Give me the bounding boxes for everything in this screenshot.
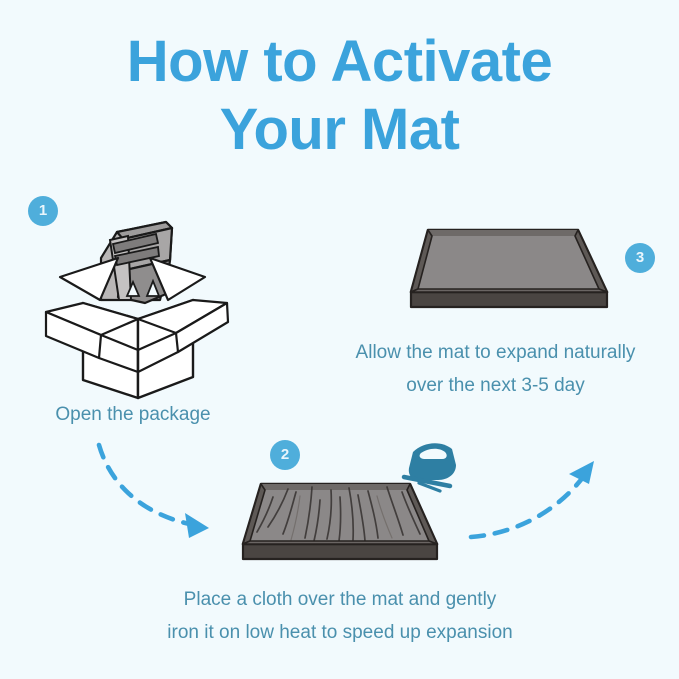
arrow-step1-to-step2 [99,445,209,538]
flat-mat-icon [411,230,607,307]
open-box-with-mat-icon [46,222,228,398]
step-badge-2: 2 [270,440,300,470]
wrinkled-mat-icon [243,484,437,559]
step-2-caption-line-2: iron it on low heat to speed up expansio… [105,616,575,649]
page-title: How to Activate Your Mat [0,28,679,165]
step-3-caption-line-1: Allow the mat to expand naturally [312,336,679,369]
title-line-2: Your Mat [0,96,679,164]
rolled-mat-shape [101,222,172,303]
step-2-caption-line-1: Place a cloth over the mat and gently [105,583,575,616]
arrow-step2-to-step3 [471,461,594,537]
step-1-caption-line-1: Open the package [0,398,266,431]
step-badge-3: 3 [625,243,655,273]
step-3-caption: Allow the mat to expand naturally over t… [312,336,679,403]
infographic-canvas: How to Activate Your Mat [0,0,679,679]
step-badge-1: 1 [28,196,58,226]
step-3-caption-line-2: over the next 3-5 day [312,369,679,402]
iron-icon [404,443,456,491]
title-line-1: How to Activate [0,28,679,96]
step-2-caption: Place a cloth over the mat and gently ir… [105,583,575,650]
step-1-caption: Open the package [0,398,266,431]
